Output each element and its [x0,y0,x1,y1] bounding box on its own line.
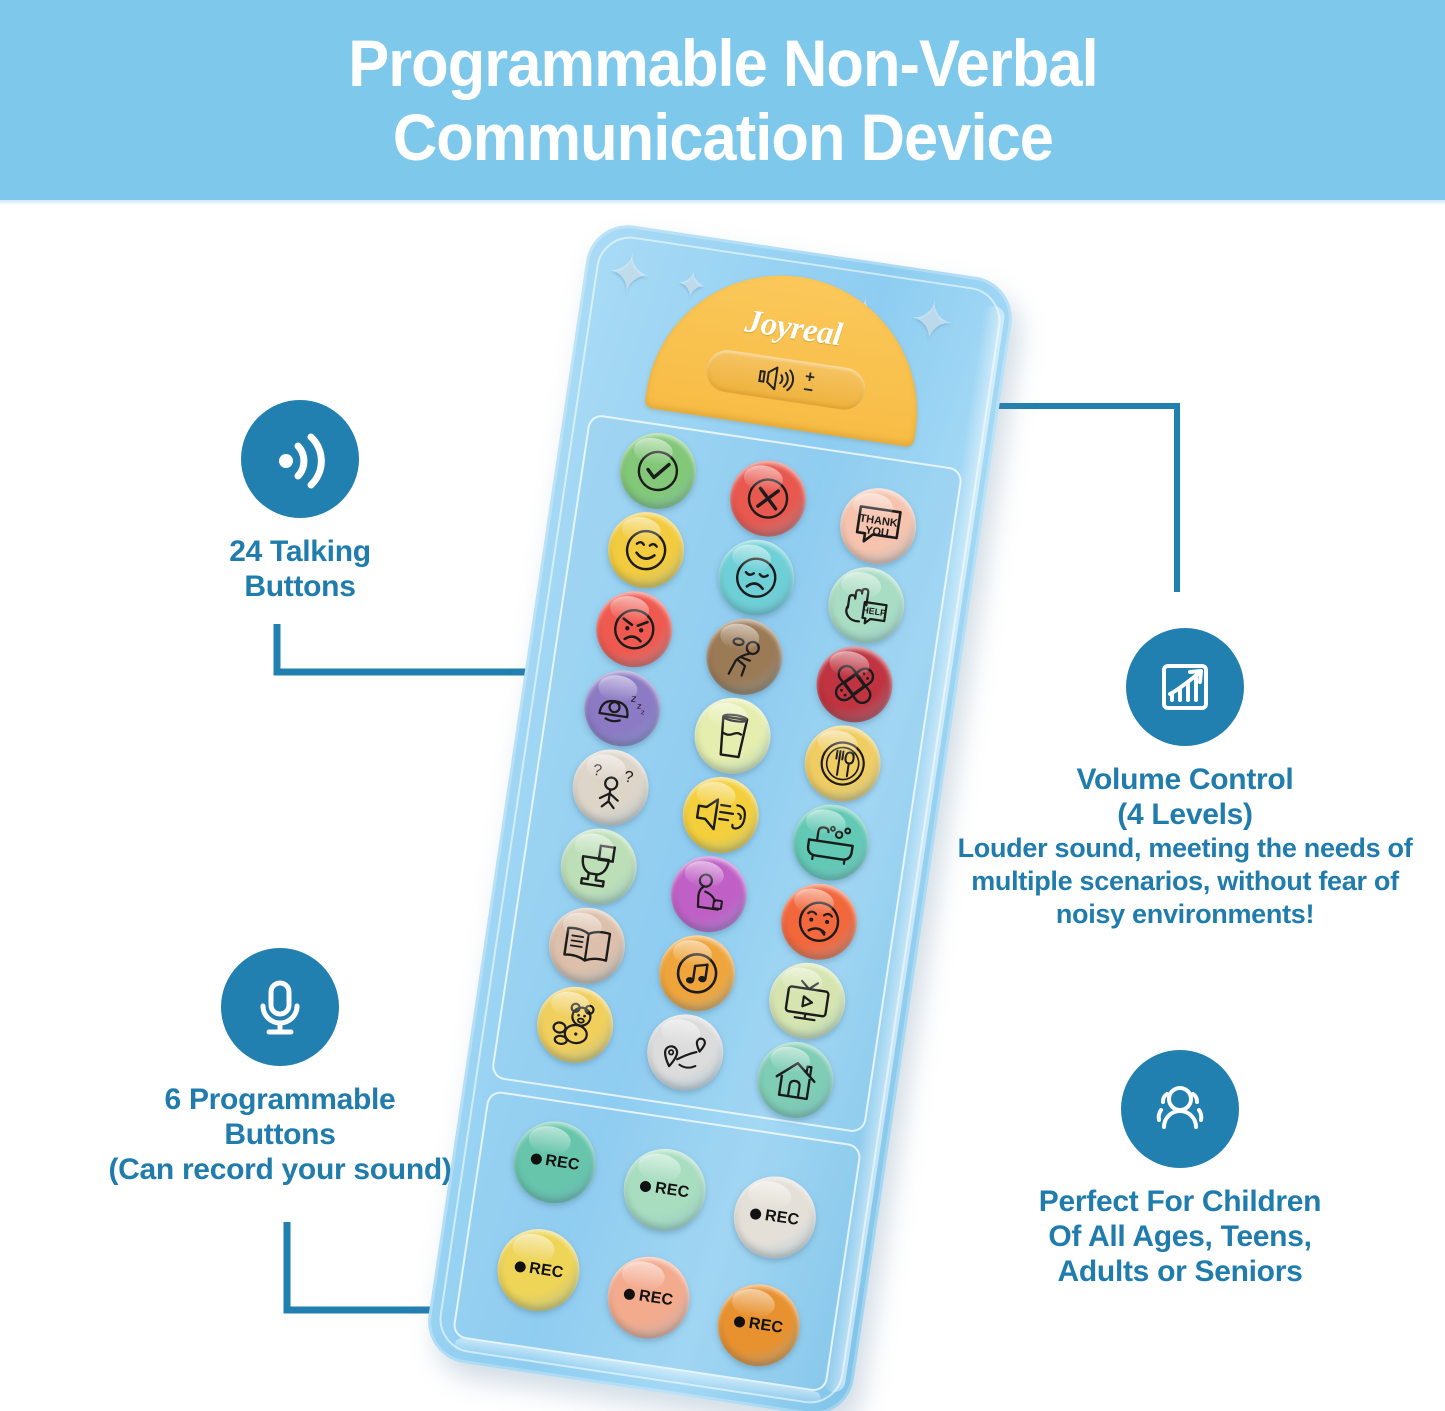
volume-minus-label: − [802,383,814,397]
feature-talking-title: 24 Talking [140,534,460,569]
programmable-record-3-button[interactable]: REC [728,1170,821,1263]
record-buttons-grid: RECRECRECRECRECREC [474,1109,841,1375]
sound-wave-icon [241,400,359,518]
feature-audience: Perfect For Children Of All Ages, Teens,… [950,1050,1410,1289]
bathtub-icon [802,817,860,868]
feature-talking-buttons: 24 Talking Buttons [140,400,460,604]
toilet-icon [573,840,626,894]
programmable-record-5-button[interactable]: REC [602,1251,695,1344]
svg-text:z: z [641,709,646,717]
record-button-cell: REC [601,1125,729,1249]
feature-audience-subtitle: Adults or Seniors [950,1254,1410,1289]
talking-button-cell [513,986,636,1082]
feature-volume-control: Volume Control (4 Levels) Louder sound, … [955,628,1415,931]
water-glass-icon [709,709,756,762]
person-sick-icon [716,630,772,683]
bandage-icon [826,656,883,713]
feature-audience-title: Perfect For Children [950,1184,1410,1219]
record-button-cell: REC [697,1250,825,1374]
record-dot-icon [640,1180,653,1193]
talking-button-music[interactable] [654,930,740,1016]
feature-talking-title-2: Buttons [140,569,460,604]
record-button-content: REC [733,1312,785,1337]
volume-control-button[interactable]: + − [704,347,868,412]
feature-volume-title-2: (4 Levels) [955,797,1415,832]
record-dot-icon [514,1261,527,1274]
tv-play-icon [778,974,836,1027]
growth-chart-icon [1126,628,1244,746]
record-button-label: REC [654,1179,691,1202]
talking-button-drink-water[interactable] [689,693,775,779]
people-group-icon [1121,1050,1239,1168]
check-icon [632,445,684,497]
record-button-label: REC [528,1259,565,1282]
programmable-record-4-button[interactable]: REC [492,1223,585,1316]
confused-person-icon: ?? [582,760,641,815]
svg-text:?: ? [623,769,634,787]
brand-logo: Joyreal [743,303,845,354]
record-button-cell: REC [474,1216,602,1340]
sleeping-person-icon: zzz [594,683,652,734]
programmable-record-2-button[interactable]: REC [618,1143,711,1236]
record-button-label: REC [638,1287,675,1310]
programmable-record-1-button[interactable]: REC [508,1115,601,1208]
music-note-icon [671,947,723,999]
record-button-cell: REC [585,1233,713,1357]
house-icon [768,1054,822,1107]
talking-button-sick-vomit[interactable] [701,614,787,700]
record-dot-icon [749,1208,762,1221]
record-button-cell: REC [713,1142,841,1266]
record-button-content: REC [513,1257,565,1282]
feature-volume-subtitle: Louder sound, meeting the needs of multi… [955,832,1415,931]
cross-circle-icon [742,472,794,524]
talking-button-go-out-map[interactable] [642,1009,728,1095]
smiley-sad-icon [730,552,782,604]
infographic-canvas: Programmable Non-Verbal Communication De… [0,0,1445,1411]
speaker-ear-icon [691,789,751,840]
feature-audience-title-2: Of All Ages, Teens, [950,1219,1410,1254]
star-decor-icon: ✦ [603,245,656,305]
record-dot-icon [733,1316,746,1329]
smiley-angry-icon [608,603,660,655]
star-decor-icon: ✦ [905,292,958,352]
record-dot-icon [530,1153,543,1166]
smiley-sick-icon [793,896,845,948]
talking-button-yes-check[interactable] [615,428,701,514]
speaker-volume-icon [756,363,803,395]
record-button-content: REC [749,1204,801,1229]
plate-utensils-icon [815,736,870,791]
talking-button-listen-loud[interactable] [678,772,764,858]
record-button-cell: REC [490,1109,618,1233]
open-book-icon [559,921,615,970]
record-button-label: REC [544,1152,581,1175]
talking-button-cell [624,1003,747,1099]
record-button-label: REC [764,1207,801,1230]
feature-volume-title: Volume Control [955,762,1415,797]
talking-button-sad-face[interactable] [713,534,799,620]
record-button-content: REC [623,1285,675,1310]
record-dot-icon [623,1288,636,1301]
programmable-record-6-button[interactable]: REC [712,1278,805,1371]
microphone-icon [221,948,339,1066]
map-route-icon [656,1027,714,1078]
record-button-content: REC [639,1177,691,1202]
feature-record-title: 6 Programmable [30,1082,530,1117]
teddy-bear-icon [546,998,604,1051]
smiley-happy-icon [620,524,672,576]
talking-button-no-cross[interactable] [725,455,811,541]
svg-text:?: ? [592,762,603,780]
record-button-label: REC [748,1314,785,1337]
talking-button-home[interactable] [752,1037,838,1123]
talking-button-play-sit[interactable] [666,851,752,937]
person-playing-icon [682,867,737,922]
talking-buttons-grid: THANKYOUHELPzzz?? [513,432,942,1115]
record-button-content: REC [529,1149,581,1174]
